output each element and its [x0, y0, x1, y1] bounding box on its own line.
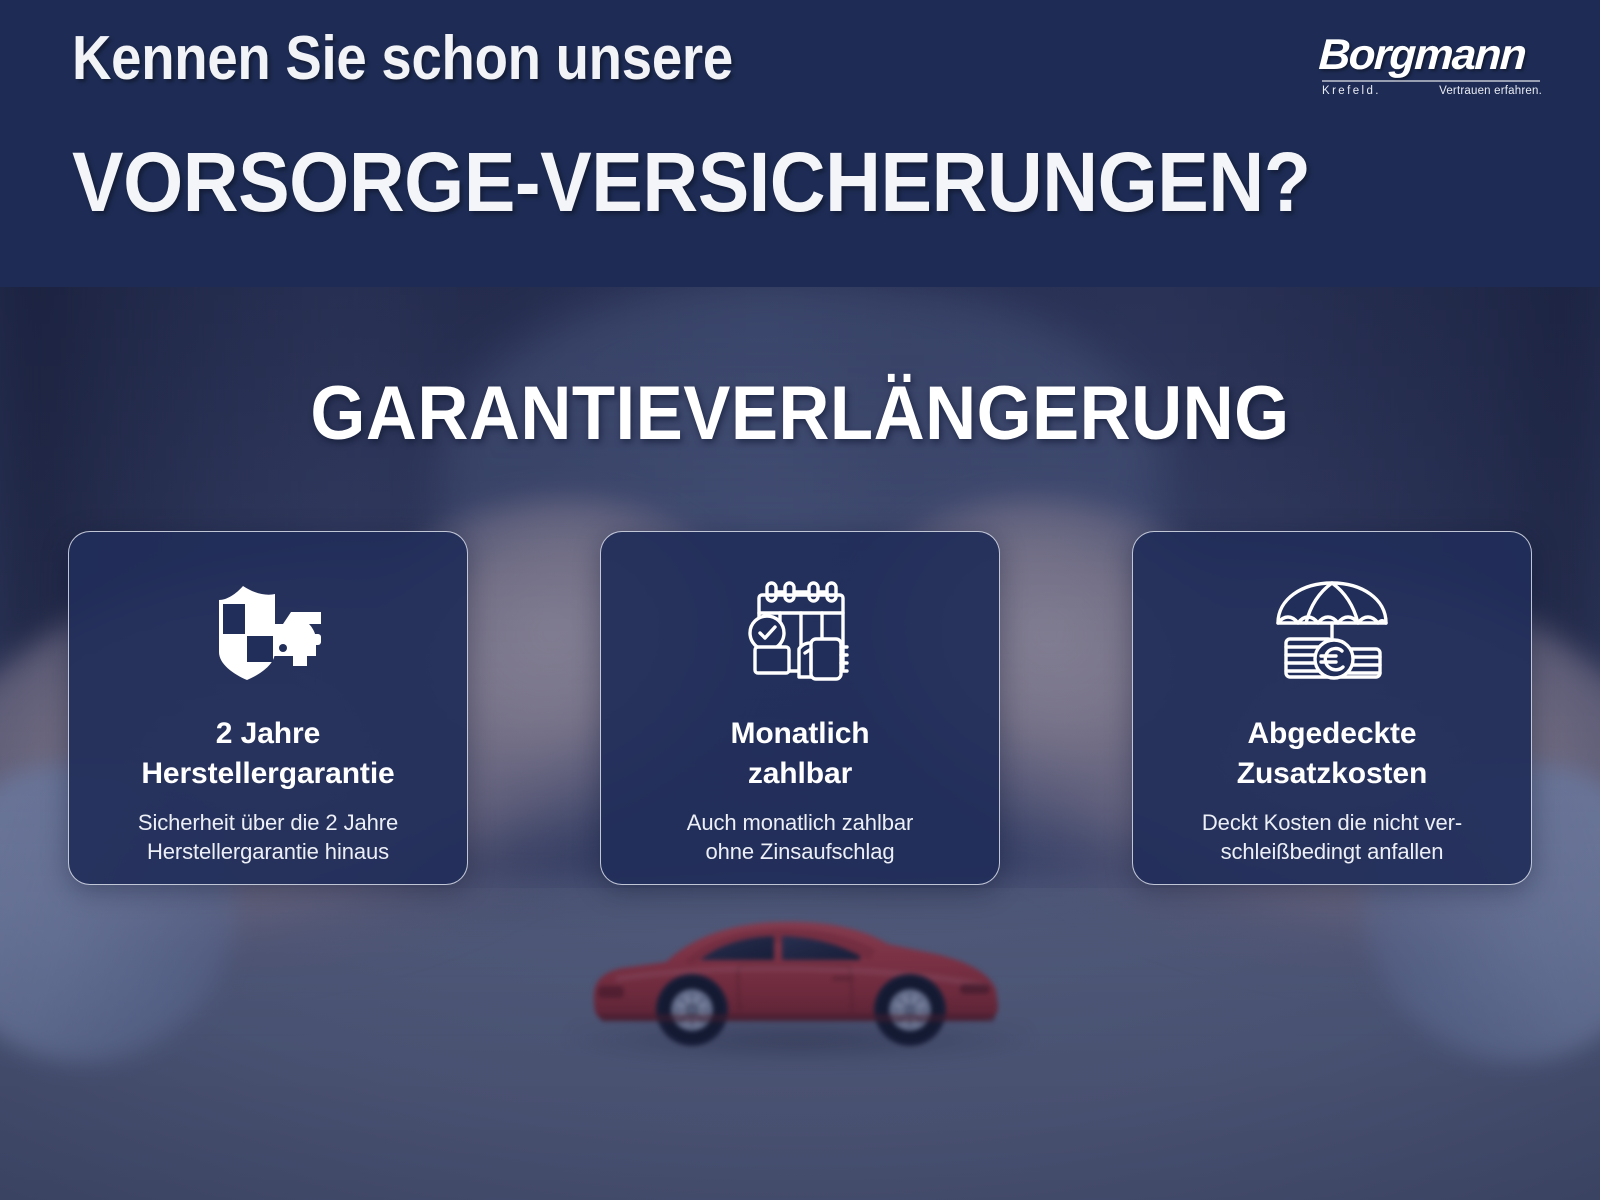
feature-card-warranty[interactable]: 2 Jahre Herstellergarantie Sicherheit üb…: [68, 531, 468, 885]
headline-eyebrow: Kennen Sie schon unsere: [72, 26, 733, 91]
borgmann-logo[interactable]: Borgmann Krefeld. Vertrauen erfahren.: [1320, 34, 1542, 108]
logo-tagline: Krefeld. Vertrauen erfahren.: [1322, 86, 1542, 98]
shield-car-icon: [206, 574, 330, 692]
umbrella-euro-coins-icon: [1270, 574, 1394, 692]
logo-city: Krefeld.: [1322, 86, 1381, 98]
calendar-check-cash-icon: [738, 574, 862, 692]
logo-divider: [1322, 80, 1540, 82]
page-title: GARANTIEVERLÄNGERUNG: [56, 376, 1544, 452]
logo-wordmark: Borgmann: [1318, 34, 1547, 77]
promo-banner: Kennen Sie schon unsere VORSORGE-VERSICH…: [0, 0, 1600, 1200]
card-title: Monatlich zahlbar: [730, 714, 869, 794]
headline-main: VORSORGE-VERSICHERUNGEN?: [72, 140, 1310, 224]
feature-card-list: 2 Jahre Herstellergarantie Sicherheit üb…: [68, 531, 1532, 885]
feature-card-extra-costs[interactable]: Abgedeckte Zusatzkosten Deckt Kosten die…: [1132, 531, 1532, 885]
logo-slogan: Vertrauen erfahren.: [1439, 86, 1542, 98]
card-description: Deckt Kosten die nicht ver- schleißbedin…: [1188, 808, 1476, 866]
card-title: Abgedeckte Zusatzkosten: [1237, 714, 1428, 794]
feature-card-monthly-payment[interactable]: Monatlich zahlbar Auch monatlich zahlbar…: [600, 531, 1000, 885]
card-title: 2 Jahre Herstellergarantie: [141, 714, 394, 794]
card-description: Auch monatlich zahlbar ohne Zinsaufschla…: [673, 808, 927, 866]
card-description: Sicherheit über die 2 Jahre Herstellerga…: [124, 808, 412, 866]
